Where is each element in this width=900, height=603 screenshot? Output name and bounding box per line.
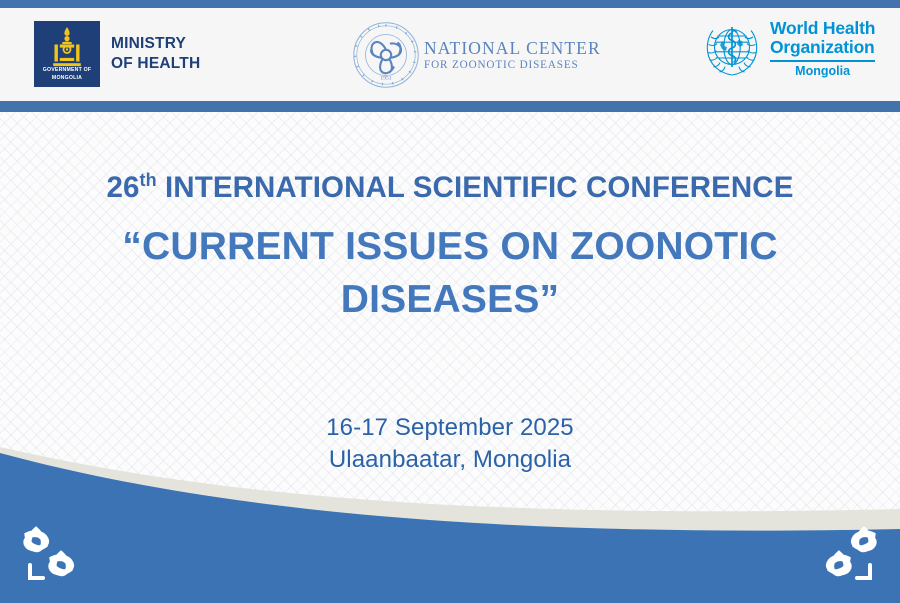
crest-caption-line2: MONGOLIA bbox=[34, 75, 100, 83]
national-center-name: NATIONAL CENTER FOR ZOONOTIC DISEASES bbox=[424, 38, 601, 72]
who-name-line2: Organization bbox=[770, 38, 875, 57]
seal-year: 1951 bbox=[380, 76, 391, 82]
crest-caption-line1: GOVERNMENT OF bbox=[34, 67, 100, 75]
conference-edition-rest: INTERNATIONAL SCIENTIFIC CONFERENCE bbox=[157, 171, 794, 204]
who-name: World Health Organization Mongolia bbox=[770, 19, 875, 79]
top-accent-bar bbox=[0, 0, 900, 8]
conference-edition-ordinal: th bbox=[140, 170, 157, 190]
national-center-name-line2: FOR ZOONOTIC DISEASES bbox=[424, 58, 601, 72]
conference-theme-title: “CURRENT ISSUES ON ZOONOTIC DISEASES” bbox=[0, 220, 900, 326]
conference-date: 16-17 September 2025 bbox=[0, 412, 900, 444]
soyombo-emblem-icon bbox=[48, 26, 86, 72]
mongolian-endless-knot-ornament-left bbox=[14, 521, 90, 587]
conference-edition-title: 26th INTERNATIONAL SCIENTIFIC CONFERENCE bbox=[0, 168, 900, 208]
who-divider-rule bbox=[770, 60, 875, 62]
who-name-line1: World Health bbox=[770, 19, 875, 38]
conference-theme-line1: “CURRENT ISSUES ON ZOONOTIC bbox=[0, 220, 900, 273]
ministry-name-line2: OF HEALTH bbox=[111, 54, 200, 74]
conference-theme-line2: DISEASES” bbox=[0, 273, 900, 326]
who-country-label: Mongolia bbox=[770, 64, 875, 79]
conference-title-slide: GOVERNMENT OF MONGOLIA MINISTRY OF HEALT… bbox=[0, 0, 900, 603]
logo-national-center-zoonotic-diseases: 1951 NATIONAL CENTER FOR ZOONOTIC DISEAS… bbox=[352, 20, 552, 90]
bottom-wave-decoration bbox=[0, 443, 900, 603]
national-center-name-line1: NATIONAL CENTER bbox=[424, 38, 601, 58]
biohazard-seal-icon: 1951 bbox=[352, 21, 420, 89]
who-emblem-icon bbox=[702, 21, 762, 79]
conference-title-block: 26th INTERNATIONAL SCIENTIFIC CONFERENCE… bbox=[0, 168, 900, 326]
mongolian-endless-knot-ornament-right bbox=[810, 521, 886, 587]
conference-edition-number: 26 bbox=[107, 171, 140, 204]
logo-world-health-organization: World Health Organization Mongolia bbox=[702, 19, 887, 89]
mongolia-government-crest: GOVERNMENT OF MONGOLIA bbox=[34, 21, 100, 87]
ministry-name-line1: MINISTRY bbox=[111, 34, 200, 54]
header-divider-bar bbox=[0, 101, 900, 112]
logo-ministry-of-health: GOVERNMENT OF MONGOLIA MINISTRY OF HEALT… bbox=[34, 21, 234, 87]
ministry-of-health-name: MINISTRY OF HEALTH bbox=[111, 34, 200, 74]
crest-caption: GOVERNMENT OF MONGOLIA bbox=[34, 67, 100, 82]
